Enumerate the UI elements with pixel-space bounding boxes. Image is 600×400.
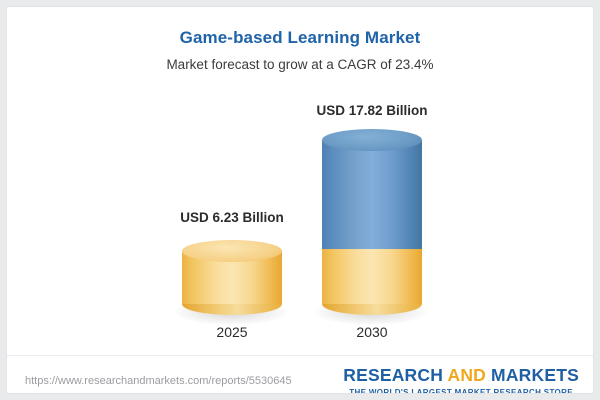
logo-tagline: THE WORLD'S LARGEST MARKET RESEARCH STOR…: [343, 388, 579, 394]
footer-divider: [7, 355, 593, 356]
bar-2030[interactable]: [322, 129, 422, 315]
logo-text-research: RESEARCH: [343, 365, 447, 385]
value-label-2030: USD 17.82 Billion: [262, 103, 482, 118]
bar-2030-top-cap: [322, 129, 422, 151]
bar-2030-gold-segment: [322, 249, 422, 304]
research-and-markets-logo[interactable]: RESEARCH AND MARKETS THE WORLD'S LARGEST…: [343, 365, 579, 394]
logo-text-markets: MARKETS: [486, 365, 579, 385]
value-label-2025: USD 6.23 Billion: [122, 210, 342, 225]
source-url[interactable]: https://www.researchandmarkets.com/repor…: [25, 375, 292, 387]
category-label-2030: 2030: [262, 324, 482, 340]
bar-2025[interactable]: [182, 240, 282, 315]
bar-2030-blue-segment: [322, 140, 422, 249]
logo-text-and: AND: [447, 365, 486, 385]
logo-wordmark: RESEARCH AND MARKETS: [343, 365, 579, 386]
chart-plot-area: USD 6.23 Billion 2025 USD 17.82 Billion …: [7, 7, 594, 353]
bar-2025-top-cap: [182, 240, 282, 262]
chart-card: Game-based Learning Market Market foreca…: [6, 6, 594, 394]
